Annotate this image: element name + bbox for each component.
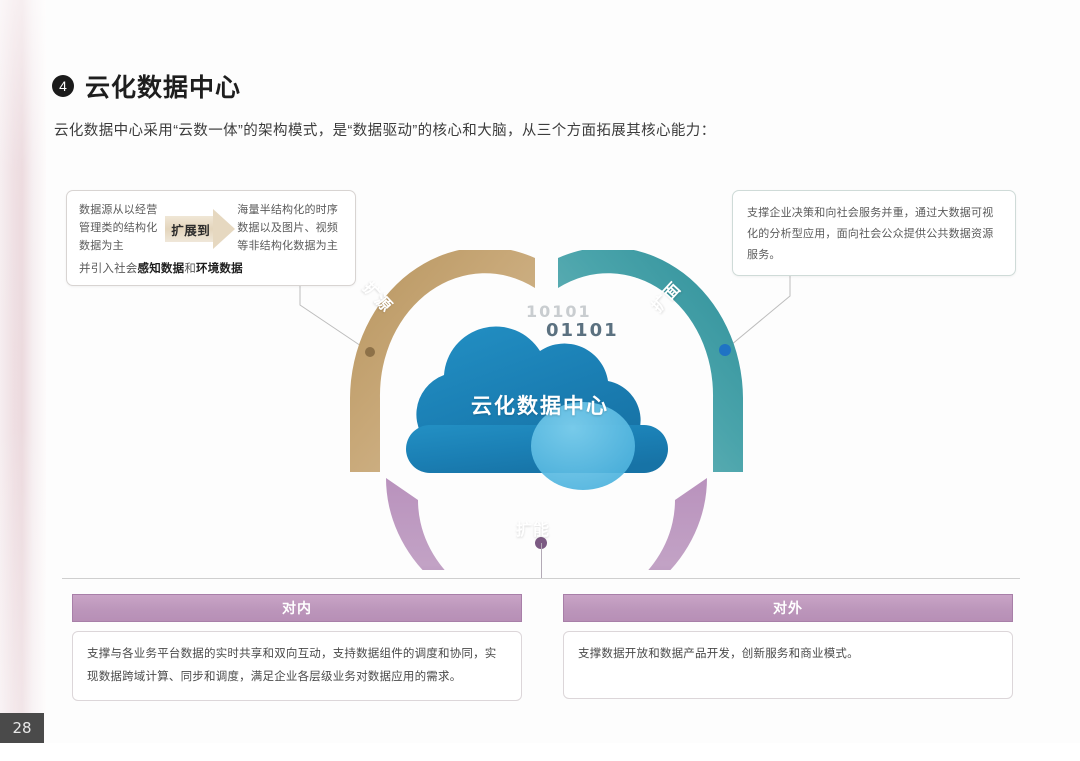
arrow-head — [213, 209, 235, 249]
callout-right-text: 海量半结构化的时序数据以及图片、视频等非结构化数据为主 — [237, 202, 343, 255]
diagram-stem-line — [541, 543, 542, 578]
page-heading: 4 云化数据中心 — [52, 68, 241, 104]
callout-bottom-bold-1: 感知数据 — [138, 263, 185, 275]
binary-text-bottom: 01101 — [546, 320, 619, 341]
page-number-badge: 28 — [0, 713, 44, 743]
binary-text-top: 10101 — [526, 302, 592, 321]
arc-source-dot — [365, 347, 375, 357]
slide-page: 4 云化数据中心 云化数据中心采用“云数一体”的架构模式，是“数据驱动”的核心和… — [0, 0, 1080, 761]
left-gradient-band — [0, 0, 46, 761]
callout-bottom-bold-2: 环境数据 — [196, 263, 243, 275]
arc-label-expand-capacity: 扩能 — [516, 516, 550, 540]
page-title: 云化数据中心 — [85, 68, 241, 104]
expand-scope-callout: 支撑企业决策和向社会服务并重，通过大数据可视化的分析型应用，面向社会公众提供公共… — [732, 190, 1016, 276]
cloud-data-center-diagram: 10101 01101 扩源 扩面 扩能 云化数据中心 — [330, 250, 750, 570]
callout-left-text: 数据源从以经营管理类的结构化数据为主 — [79, 202, 163, 255]
cloud-icon — [406, 327, 668, 490]
expand-arrow-label: 扩展到 — [165, 220, 210, 239]
panel-external-body: 支撑数据开放和数据产品开发，创新服务和商业模式。 — [563, 631, 1013, 699]
cloud-accent-puff — [531, 402, 635, 490]
panel-internal-header: 对内 — [72, 594, 522, 622]
panel-external-header: 对外 — [563, 594, 1013, 622]
expand-scope-text: 支撑企业决策和向社会服务并重，通过大数据可视化的分析型应用，面向社会公众提供公共… — [747, 203, 1001, 266]
arc-scope-dot — [719, 344, 731, 356]
callout-bottom-mid: 和 — [184, 263, 196, 275]
expand-arrow-icon: 扩展到 — [165, 209, 235, 249]
panel-internal-body: 支撑与各业务平台数据的实时共享和双向互动，支持数据组件的调度和协同，实现数据跨域… — [72, 631, 522, 701]
panel-internal: 对内 支撑与各业务平台数据的实时共享和双向互动，支持数据组件的调度和协同，实现数… — [72, 594, 522, 701]
bottom-strip — [0, 743, 1080, 761]
callout-bottom-prefix: 并引入社会 — [79, 263, 138, 275]
intro-paragraph: 云化数据中心采用“云数一体”的架构模式，是“数据驱动”的核心和大脑，从三个方面拓… — [54, 119, 716, 140]
callout-row: 数据源从以经营管理类的结构化数据为主 扩展到 海量半结构化的时序数据以及图片、视… — [79, 201, 343, 257]
panel-external: 对外 支撑数据开放和数据产品开发，创新服务和商业模式。 — [563, 594, 1013, 699]
expand-source-callout: 数据源从以经营管理类的结构化数据为主 扩展到 海量半结构化的时序数据以及图片、视… — [66, 190, 356, 286]
section-number-badge: 4 — [52, 75, 74, 97]
left-gradient-overlay — [0, 0, 46, 761]
horizontal-divider — [62, 578, 1020, 579]
callout-bottom-text: 并引入社会感知数据和环境数据 — [79, 257, 343, 276]
